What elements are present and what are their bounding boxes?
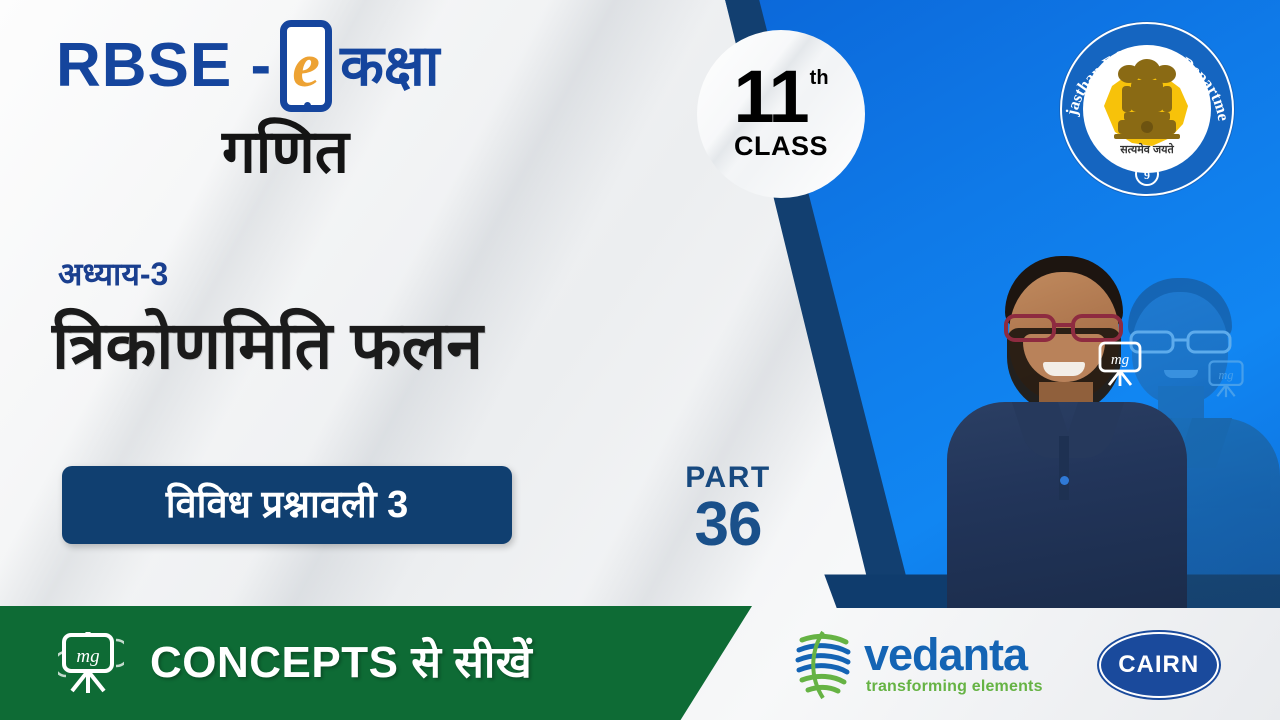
part-number: 36	[668, 494, 788, 556]
footer-tagline: CONCEPTS से सीखें	[150, 641, 532, 685]
shirt-button	[1060, 476, 1069, 485]
vedanta-text: vedanta transforming elements	[864, 634, 1043, 697]
platform-suffix: कक्षा	[340, 38, 439, 95]
svg-text:mg: mg	[76, 646, 99, 667]
exercise-label: विविध प्रश्नावली 3	[166, 486, 409, 524]
class-label: CLASS	[734, 131, 828, 162]
subject-title: गणित	[222, 122, 349, 182]
torso-shape	[947, 402, 1187, 608]
vedanta-tagline: transforming elements	[866, 678, 1043, 696]
part-label: PART	[668, 462, 788, 494]
smartphone-icon: e	[280, 20, 332, 112]
seal-motto: सत्यमेव जयते	[1119, 142, 1174, 156]
instructor-foreground: mg	[947, 250, 1187, 608]
cairn-logo: CAIRN	[1099, 632, 1219, 698]
shirt-placket	[1059, 436, 1069, 500]
glasses-icon	[1003, 310, 1125, 344]
collar-right	[1060, 402, 1124, 458]
rajasthan-education-department-seal: Rajasthan Education Department सत्यमेव ज…	[1052, 14, 1242, 204]
exercise-badge: विविध प्रश्नावली 3	[62, 466, 512, 544]
svg-text:mg: mg	[1111, 352, 1130, 368]
mg-shirt-logo-icon: mg	[1095, 340, 1145, 386]
cairn-name: CAIRN	[1118, 651, 1199, 679]
sponsor-logos: vedanta transforming elements CAIRN	[790, 612, 1260, 718]
part-indicator: PART 36	[668, 462, 788, 556]
video-thumbnail: mg mg	[0, 0, 1280, 720]
vedanta-name: vedanta	[864, 634, 1043, 677]
vedanta-logo: vedanta transforming elements	[790, 626, 1043, 704]
svg-text:mg: mg	[1219, 368, 1234, 382]
footer-tagline-bar: mg CONCEPTS से सीखें	[0, 606, 752, 720]
class-badge: 11 th CLASS	[697, 30, 865, 198]
chapter-label: अध्याय-3	[58, 258, 168, 290]
topic-title: त्रिकोणमिति फलन	[52, 308, 483, 384]
instructor-photos: mg mg	[905, 228, 1280, 608]
mg-shirt-logo-icon: mg	[1204, 358, 1248, 398]
e-letter: e	[287, 27, 325, 105]
mg-easel-logo-icon: mg	[58, 632, 124, 694]
class-ordinal-suffix: th	[810, 70, 829, 87]
brand-header: RBSE - e कक्षा	[56, 20, 440, 112]
board-name: RBSE -	[56, 35, 272, 97]
vedanta-leaf-icon	[790, 626, 856, 704]
class-number: 11	[733, 66, 807, 129]
svg-text:9: 9	[1144, 168, 1150, 182]
smile-shape	[1043, 362, 1085, 376]
class-number-row: 11 th	[733, 66, 828, 129]
